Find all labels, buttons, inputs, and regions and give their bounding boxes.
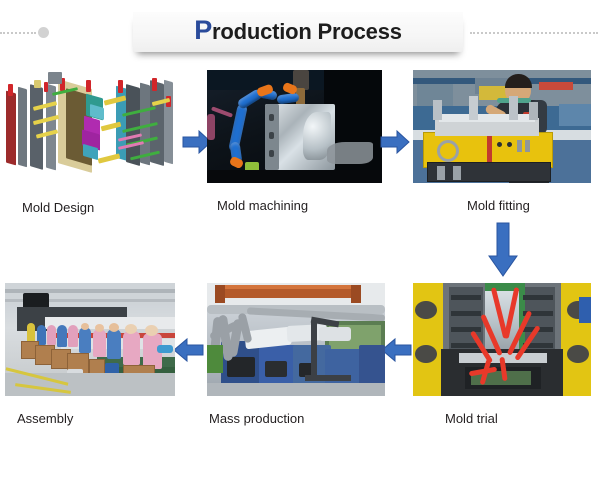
step-mold-design[interactable]: Mold Design [0,70,190,220]
step-assembly[interactable]: Assembly [5,283,192,433]
page-title: Production Process [194,19,402,45]
mass-production-image [207,283,385,396]
caption-assembly: Assembly [17,411,73,426]
title-rest: roduction Process [212,19,402,44]
caption-mass-production: Mass production [209,411,304,426]
mold-trial-image [413,283,591,396]
step-mold-trial[interactable]: Mold trial [413,283,600,433]
arrow-down-fitting-to-trial [487,222,519,278]
assembly-image [5,283,175,396]
step-mass-production[interactable]: Mass production [207,283,394,433]
step-mold-machining[interactable]: Mold machining [207,70,387,220]
caption-mold-fitting: Mold fitting [467,198,530,213]
caption-mold-trial: Mold trial [445,411,498,426]
caption-mold-machining: Mold machining [217,198,308,213]
mold-design-image [0,70,185,188]
decor-dotted-line-right [470,32,598,34]
mold-machining-image [207,70,382,183]
caption-mold-design: Mold Design [22,200,94,215]
step-mold-fitting[interactable]: Mold fitting [413,70,600,220]
title-banner: Production Process [0,12,600,54]
mold-fitting-image [413,70,591,183]
production-process-infographic: Production Process [0,0,600,501]
title-panel: Production Process [133,12,463,52]
arrow-right-machining-to-fitting [380,128,410,156]
decor-dot-left [38,27,49,38]
title-initial: P [194,15,212,45]
decor-dotted-line-left [0,32,36,34]
